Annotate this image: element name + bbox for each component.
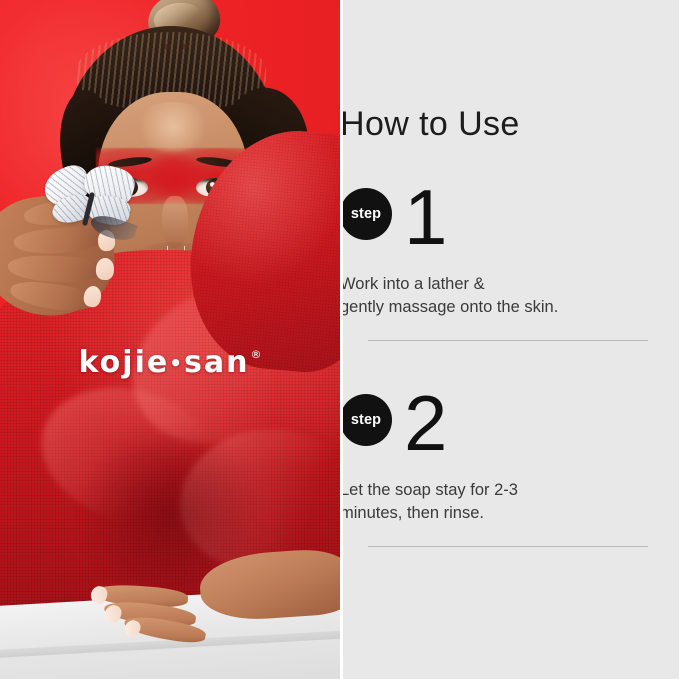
fingernail — [95, 258, 114, 281]
nose — [162, 196, 188, 248]
step-number-1: 1 — [404, 178, 447, 256]
panel-divider-seam — [340, 0, 343, 679]
hero-image-panel: kojie•san® — [0, 0, 340, 679]
step-number-2: 2 — [404, 384, 447, 462]
how-to-use-infographic: kojie•san® How to Use step 1 Work into a… — [0, 0, 679, 679]
step-description-1: Work into a lather & gently massage onto… — [340, 273, 622, 321]
instructions-panel: How to Use step 1 Work into a lather & g… — [340, 0, 679, 679]
step-description-2: Let the soap stay for 2-3 minutes, then … — [340, 479, 622, 527]
step-header-1: step 1 — [340, 188, 620, 260]
step-block-2: step 2 Let the soap stay for 2-3 minutes… — [340, 394, 620, 466]
page-title: How to Use — [340, 105, 520, 144]
model-photo — [0, 0, 340, 679]
step-block-1: step 1 Work into a lather & gently massa… — [340, 188, 620, 260]
nostril-left — [163, 44, 171, 49]
step-badge-1: step — [340, 188, 392, 240]
butterfly-icon — [42, 166, 138, 238]
nostril-right — [181, 44, 189, 49]
step-badge-label: step — [351, 207, 381, 222]
step-divider-1 — [368, 340, 648, 341]
step-divider-2 — [368, 546, 648, 547]
step-badge-label: step — [351, 413, 381, 428]
step-badge-2: step — [340, 394, 392, 446]
step-header-2: step 2 — [340, 394, 620, 466]
